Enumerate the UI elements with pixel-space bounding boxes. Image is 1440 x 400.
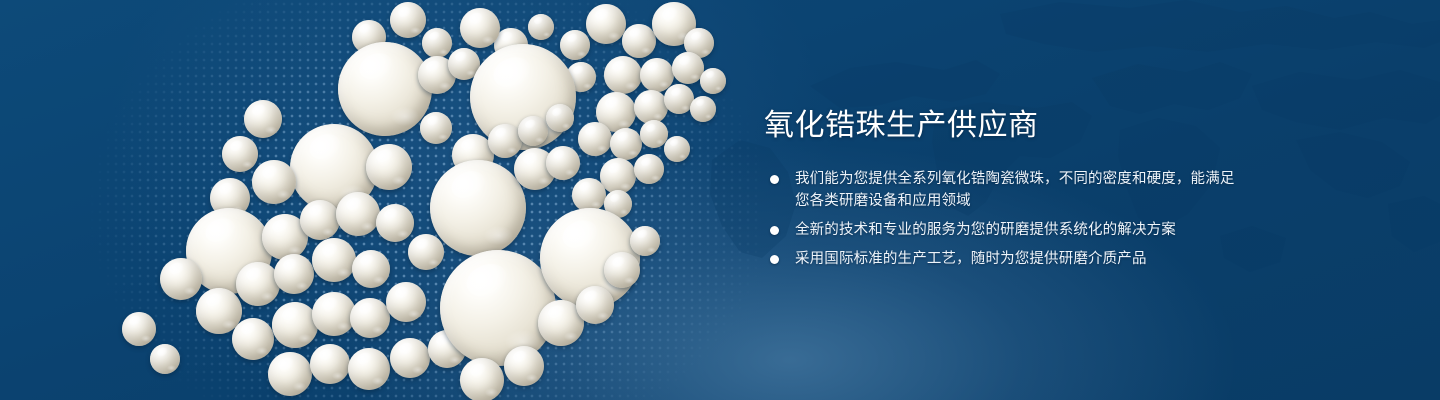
promo-banner: 氧化锆珠生产供应商 我们能为您提供全系列氧化锆陶瓷微珠，不同的密度和硬度，能满足…: [0, 0, 1440, 400]
banner-text-block: 氧化锆珠生产供应商 我们能为您提供全系列氧化锆陶瓷微珠，不同的密度和硬度，能满足…: [762, 0, 1402, 400]
feature-bullet-list: 我们能为您提供全系列氧化锆陶瓷微珠，不同的密度和硬度，能满足您各类研磨设备和应用…: [766, 168, 1236, 277]
zirconia-bead-cluster-image: [0, 0, 760, 400]
filled-circle-bullet-icon: [770, 255, 779, 264]
list-item: 采用国际标准的生产工艺，随时为您提供研磨介质产品: [766, 248, 1236, 270]
filled-circle-bullet-icon: [770, 226, 779, 235]
filled-circle-bullet-icon: [770, 175, 779, 184]
bullet-text: 采用国际标准的生产工艺，随时为您提供研磨介质产品: [795, 248, 1236, 270]
bullet-text: 我们能为您提供全系列氧化锆陶瓷微珠，不同的密度和硬度，能满足您各类研磨设备和应用…: [795, 168, 1236, 212]
page-title: 氧化锆珠生产供应商: [764, 108, 1039, 144]
list-item: 我们能为您提供全系列氧化锆陶瓷微珠，不同的密度和硬度，能满足您各类研磨设备和应用…: [766, 168, 1236, 212]
halftone-dot-pattern-icon: [0, 0, 760, 400]
bullet-text: 全新的技术和专业的服务为您的研磨提供系统化的解决方案: [795, 219, 1236, 241]
list-item: 全新的技术和专业的服务为您的研磨提供系统化的解决方案: [766, 219, 1236, 241]
